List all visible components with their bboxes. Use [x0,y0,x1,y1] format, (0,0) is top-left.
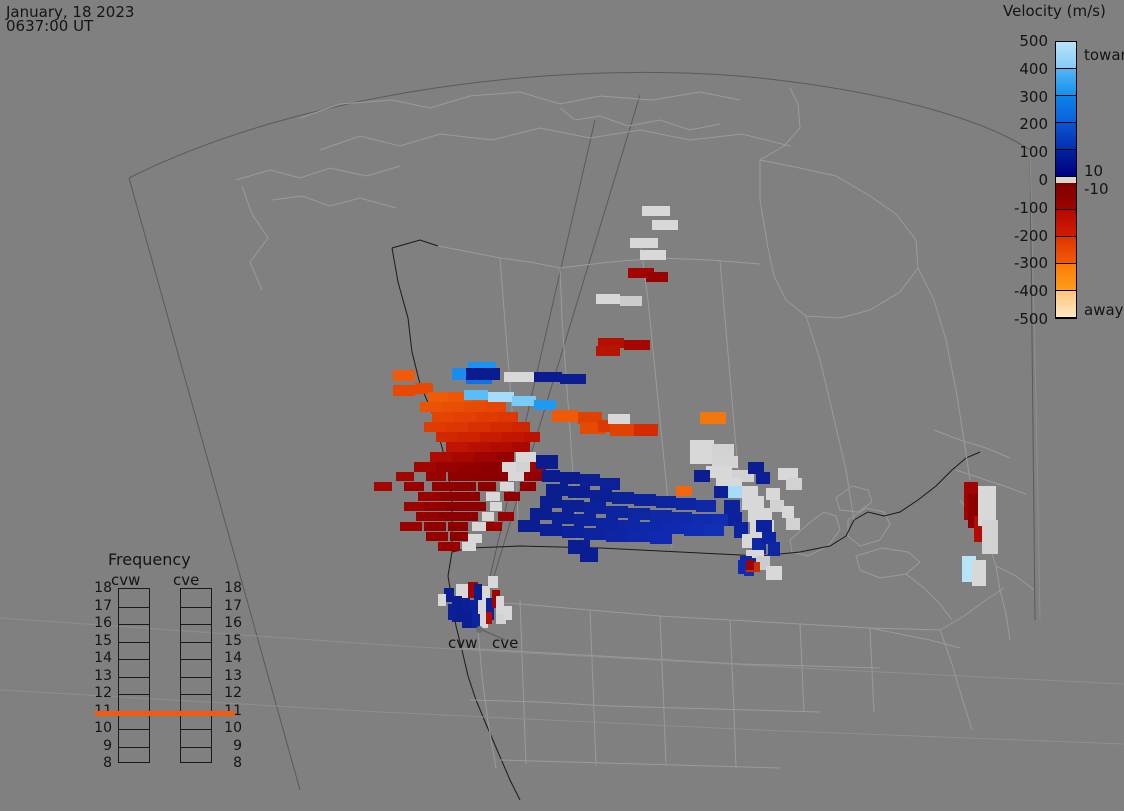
velocity-cell [462,542,476,551]
velocity-cell [540,524,562,536]
velocity-cell [468,422,490,432]
velocity-cell [393,385,415,396]
velocity-cell [690,440,714,452]
velocity-cell [450,532,468,541]
velocity-cell [468,442,490,452]
velocity-cell [426,532,448,541]
velocity-cell [424,422,446,432]
velocity-cell [446,422,468,432]
frequency-tick-label: 17 [218,598,242,614]
velocity-cell [676,486,692,496]
frequency-tick-label: 14 [88,650,112,666]
frequency-axis-cvw [118,588,150,763]
frequency-gridline [119,694,149,695]
velocity-data-cells [0,0,1124,811]
colorbar-tick-label: 300 [1002,88,1048,106]
velocity-cell [728,486,742,498]
velocity-cell [786,518,800,530]
frequency-gridline [119,729,149,730]
velocity-cell [488,392,514,402]
velocity-cell [628,530,650,542]
velocity-cell [536,455,558,469]
velocity-cell [496,596,504,614]
velocity-cell [628,508,650,520]
velocity-cell [446,502,468,511]
frequency-gridline [119,642,149,643]
frequency-gridline [119,659,149,660]
velocity-cell [580,548,598,562]
frequency-gridline [119,607,149,608]
velocity-cell [656,496,676,508]
colorbar-band [1056,291,1076,318]
velocity-cell [490,422,512,432]
colorbar-away-label: away [1084,301,1124,319]
velocity-cell [590,490,612,502]
velocity-cell [624,340,650,350]
velocity-cell [504,606,512,620]
velocity-cell [630,238,658,248]
velocity-cell [596,294,620,304]
frequency-tick-label: 18 [88,580,112,596]
velocity-cell [504,372,534,382]
frequency-gridline [181,677,211,678]
colorbar-band [1056,210,1076,237]
velocity-cell [472,522,486,531]
velocity-cell [404,482,424,491]
velocity-cell [560,472,580,484]
velocity-cell [518,520,540,532]
velocity-cell [696,500,716,512]
superdarn-velocity-map: January, 18 2023 0637:00 UT [0,0,1124,811]
velocity-cell [470,472,492,481]
velocity-cell [768,542,780,556]
frequency-marker [157,711,235,716]
frequency-tick-label: 8 [88,755,112,771]
velocity-cell [404,502,424,511]
velocity-cell [482,512,494,521]
velocity-cell [552,512,574,524]
velocity-cell [424,522,446,531]
velocity-cell [568,486,590,498]
colorbar-tick-label: 0 [1002,171,1048,189]
velocity-cell [766,566,782,580]
velocity-cell [424,502,446,511]
velocity-cell [766,488,780,500]
velocity-cell [436,432,458,442]
colorbar-tick-label: -500 [1002,310,1048,328]
velocity-cell [426,472,446,481]
colorbar-tick-label: 100 [1002,143,1048,161]
velocity-cell [428,392,448,402]
velocity-cell [374,482,392,491]
velocity-cell [396,472,414,481]
velocity-cell [646,272,668,282]
colorbar-band [1056,264,1076,291]
frequency-gridline [119,677,149,678]
frequency-tick-label: 13 [88,668,112,684]
frequency-tick-label: 12 [218,685,242,701]
velocity-cell [634,494,656,506]
velocity-cell [574,514,596,526]
velocity-cell [620,296,642,306]
velocity-cell [634,424,658,436]
velocity-cell [516,452,536,462]
velocity-cell [474,452,496,462]
frequency-gridline [181,624,211,625]
velocity-cell [492,472,508,481]
frequency-gridline [181,747,211,748]
velocity-cell [496,452,514,462]
frequency-tick-label: 16 [218,615,242,631]
frequency-tick-label: 12 [88,685,112,701]
velocity-cell [608,414,630,424]
velocity-cell [610,424,634,436]
velocity-cell [512,396,536,406]
velocity-cell [562,526,584,538]
velocity-cell [504,492,520,501]
velocity-cell [452,452,474,462]
velocity-cell [652,220,678,230]
velocity-cell [486,612,492,624]
velocity-cell [542,470,560,482]
velocity-cell [756,520,772,532]
velocity-cell [490,442,512,452]
radar-site-marker [476,626,483,633]
velocity-cell [534,372,562,382]
velocity-cell [606,506,628,518]
velocity-cell [580,474,600,486]
frequency-tick-label: 17 [88,598,112,614]
velocity-cell [584,528,606,540]
frequency-gridline [119,624,149,625]
velocity-cell [486,492,500,501]
velocity-cell [414,462,436,472]
frequency-column-label-cve: cve [173,571,199,589]
velocity-cell [756,472,770,484]
velocity-cell [512,442,530,452]
colorbar-band [1056,183,1076,210]
velocity-cell [460,512,478,521]
colorbar-tick-label: 500 [1002,32,1048,50]
velocity-cell [400,522,422,531]
velocity-cell [500,482,514,491]
velocity-cell [540,496,562,508]
velocity-cell [462,492,480,501]
frequency-tick-label: 10 [88,720,112,736]
velocity-cell [420,402,442,412]
velocity-cell [436,462,458,472]
frequency-gridline [119,747,149,748]
velocity-cell [584,502,606,514]
frequency-gridline [181,694,211,695]
velocity-cell [512,422,530,432]
velocity-colorbar [1055,41,1077,319]
velocity-cell [438,542,460,551]
velocity-cell [448,604,456,620]
frequency-gridline [181,607,211,608]
colorbar-band [1056,123,1076,150]
colorbar-tick-label: -100 [1002,199,1048,217]
velocity-cell [712,444,734,456]
velocity-cell [700,412,726,424]
frequency-tick-label: 15 [88,633,112,649]
velocity-cell [704,524,724,536]
velocity-cell [440,492,462,501]
frequency-tick-label: 14 [218,650,242,666]
velocity-cell [640,250,666,260]
velocity-cell [746,560,754,570]
velocity-cell [464,390,488,400]
velocity-cell [516,462,530,472]
velocity-cell [600,478,620,490]
frequency-tick-label: 9 [218,738,242,754]
frequency-tick-label: 9 [88,738,112,754]
velocity-cell [498,412,518,422]
velocity-cell [432,482,454,491]
velocity-cell [438,594,446,606]
colorbar-tick-label: 400 [1002,60,1048,78]
velocity-cell [486,402,506,412]
velocity-cell [524,432,540,442]
frequency-tick-label: 10 [218,720,242,736]
colorbar-tick-label: -300 [1002,254,1048,272]
velocity-cell [562,500,584,512]
velocity-cell [782,506,794,518]
velocity-cell [430,452,452,462]
velocity-cell [642,206,670,216]
velocity-cell [560,374,586,384]
colorbar-tick-label: -400 [1002,282,1048,300]
velocity-cell [694,470,710,482]
velocity-cell [454,482,476,491]
colorbar-tick-label: 200 [1002,115,1048,133]
colorbar-title: Velocity (m/s) [1003,2,1106,20]
velocity-cell [650,532,672,544]
velocity-cell [438,512,460,521]
velocity-cell [393,370,415,381]
colorbar-band [1056,42,1076,69]
frequency-tick-label: 16 [88,615,112,631]
velocity-cell [508,472,524,481]
site-label-cve: cve [492,634,518,652]
velocity-cell [606,530,628,542]
velocity-cell [690,452,712,464]
velocity-cell [488,576,498,588]
velocity-cell [534,400,556,410]
velocity-cell [502,432,524,442]
frequency-tick-label: 15 [218,633,242,649]
frequency-column-label-cvw: cvw [111,571,140,589]
velocity-cell [502,462,516,472]
velocity-cell [552,410,578,422]
frequency-tick-label: 8 [218,755,242,771]
velocity-cell [466,368,500,380]
velocity-cell [464,402,486,412]
frequency-gridline [181,729,211,730]
velocity-cell [982,520,998,554]
velocity-cell [416,512,438,521]
frequency-panel-title: Frequency [108,550,191,569]
velocity-cell [476,412,498,422]
velocity-cell [530,508,552,520]
frequency-gridline [181,642,211,643]
velocity-cell [498,512,514,521]
velocity-cell [458,462,480,472]
velocity-cell [442,402,464,412]
velocity-cell [468,502,486,511]
colorbar-band [1056,237,1076,264]
colorbar-tick-label: -200 [1002,227,1048,245]
velocity-cell [480,462,502,472]
colorbar-band [1056,69,1076,96]
colorbar-toward-label: toward [1084,46,1124,64]
velocity-cell [458,432,480,442]
velocity-cell [684,524,704,536]
velocity-cell [650,510,672,522]
colorbar-inner-negative-label: -10 [1084,180,1109,198]
colorbar-band [1056,96,1076,123]
velocity-cell [520,482,536,491]
velocity-cell [418,492,440,501]
velocity-cell [480,432,502,442]
velocity-cell [596,346,620,356]
velocity-cell [462,612,472,628]
velocity-cell [432,412,454,422]
velocity-cell [612,492,634,504]
velocity-cell [448,472,470,481]
velocity-cell [524,472,542,481]
velocity-cell [448,522,468,531]
velocity-cell [972,560,986,586]
frequency-tick-label: 18 [218,580,242,596]
velocity-cell [446,442,468,452]
colorbar-band [1056,150,1076,177]
velocity-cell [676,498,696,510]
frequency-gridline [181,659,211,660]
velocity-cell [490,502,502,511]
velocity-cell [486,522,502,531]
velocity-cell [546,484,568,496]
velocity-cell [478,482,496,491]
frequency-tick-label: 13 [218,668,242,684]
colorbar-inner-positive-label: 10 [1084,162,1103,180]
velocity-cell [786,478,802,490]
frequency-axis-cve [180,588,212,763]
velocity-cell [454,412,476,422]
site-label-cvw: cvw [448,634,477,652]
